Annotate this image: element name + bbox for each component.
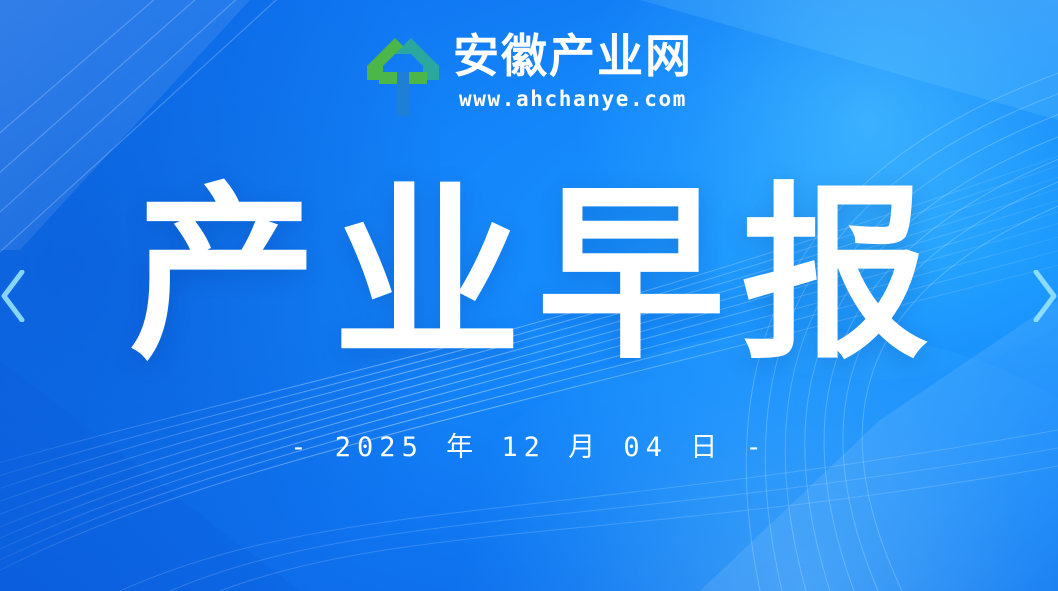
date-line: - 2025 年 12 月 04 日 - xyxy=(0,425,1058,464)
date-year: 2025 xyxy=(335,432,424,463)
brand-lockup: 安徽产业网 www.ahchanye.com xyxy=(0,28,1058,118)
industry-morning-report-banner: 安徽产业网 www.ahchanye.com 产业早报 - 2025 年 12 … xyxy=(0,0,1058,591)
date-lead-dash: - xyxy=(290,432,312,463)
anhui-industry-net-logo-icon xyxy=(365,36,441,118)
date-month-unit: 月 xyxy=(568,432,601,463)
date-trail-dash: - xyxy=(745,432,767,463)
brand-title: 安徽产业网 xyxy=(453,30,693,83)
date-day-unit: 日 xyxy=(690,432,723,463)
date-day: 04 xyxy=(623,432,668,463)
page-title: 产业早报 xyxy=(0,176,1058,376)
brand-text: 安徽产业网 www.ahchanye.com xyxy=(453,30,693,111)
date-year-unit: 年 xyxy=(446,432,479,463)
brand-url: www.ahchanye.com xyxy=(459,87,687,111)
date-month: 12 xyxy=(501,432,546,463)
